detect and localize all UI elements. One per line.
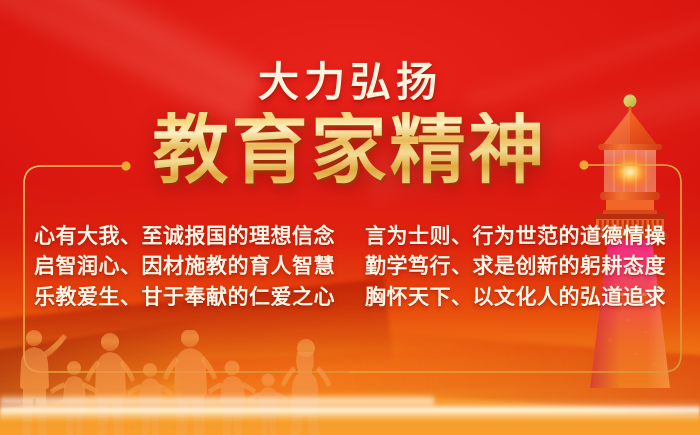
slogan-line: 言为士则、行为世范的道德情操 [365, 226, 666, 247]
education-spirit-banner: 大力弘扬 教育家精神 心有大我、至诚报国的理想信念 启智润心、因材施教的育人智慧… [0, 0, 700, 435]
slogan-column-right: 言为士则、行为世范的道德情操 勤学笃行、求是创新的躬耕态度 胸怀天下、以文化人的… [365, 226, 666, 308]
slogan-line: 启智润心、因材施教的育人智慧 [34, 256, 335, 277]
bottom-glow-band-secondary [0, 394, 434, 408]
banner-subtitle: 大力弘扬 [0, 62, 700, 103]
banner-main-title: 教育家精神 [0, 112, 700, 188]
slogan-line: 乐教爱生、甘于奉献的仁爱之心 [34, 287, 335, 308]
slogan-line: 胸怀天下、以文化人的弘道追求 [365, 287, 666, 308]
slogan-container: 心有大我、至诚报国的理想信念 启智润心、因材施教的育人智慧 乐教爱生、甘于奉献的… [34, 226, 666, 308]
slogan-line: 勤学笃行、求是创新的躬耕态度 [365, 256, 666, 277]
slogan-line: 心有大我、至诚报国的理想信念 [34, 226, 335, 247]
slogan-column-left: 心有大我、至诚报国的理想信念 启智润心、因材施教的育人智慧 乐教爱生、甘于奉献的… [34, 226, 335, 308]
